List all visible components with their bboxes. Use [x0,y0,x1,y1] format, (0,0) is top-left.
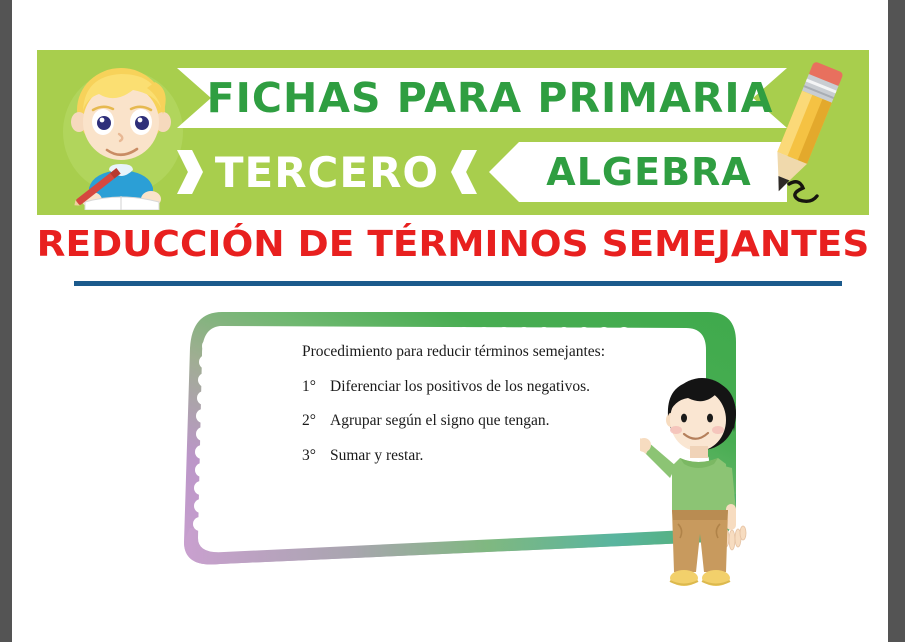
step-number: 1° [302,379,330,395]
page-title: REDUCCIÓN DE TÉRMINOS SEMEJANTES [20,224,885,265]
instructions-lead: Procedimiento para reducir términos seme… [302,344,702,360]
document-viewer: FICHAS PARA PRIMARIA TERCERO ALGEBRA [0,0,905,642]
chevron-right-icon [177,150,203,194]
pointing-boy-icon [640,372,760,594]
chevron-left-icon [451,150,477,194]
step-text: Diferenciar los positivos de los negativ… [330,379,590,395]
header-banner: FICHAS PARA PRIMARIA TERCERO ALGEBRA [37,50,869,215]
step-number: 2° [302,413,330,429]
ribbon-subject: ALGEBRA [489,142,787,202]
ribbon-grade: TERCERO [177,142,477,202]
pencil-icon [745,56,863,211]
ribbon-fichas-para-primaria: FICHAS PARA PRIMARIA [177,68,787,128]
step-number: 3° [302,448,330,464]
mascot-boy-icon [59,60,187,210]
ribbon-label-line1: FICHAS PARA PRIMARIA [177,68,787,128]
step-text: Agrupar según el signo que tengan. [330,413,550,429]
ribbon-label-grade: TERCERO [211,142,443,202]
ribbon-label-subject: ALGEBRA [489,142,787,202]
title-underline [74,281,842,286]
worksheet-page: FICHAS PARA PRIMARIA TERCERO ALGEBRA [12,0,888,642]
step-text: Sumar y restar. [330,448,423,464]
